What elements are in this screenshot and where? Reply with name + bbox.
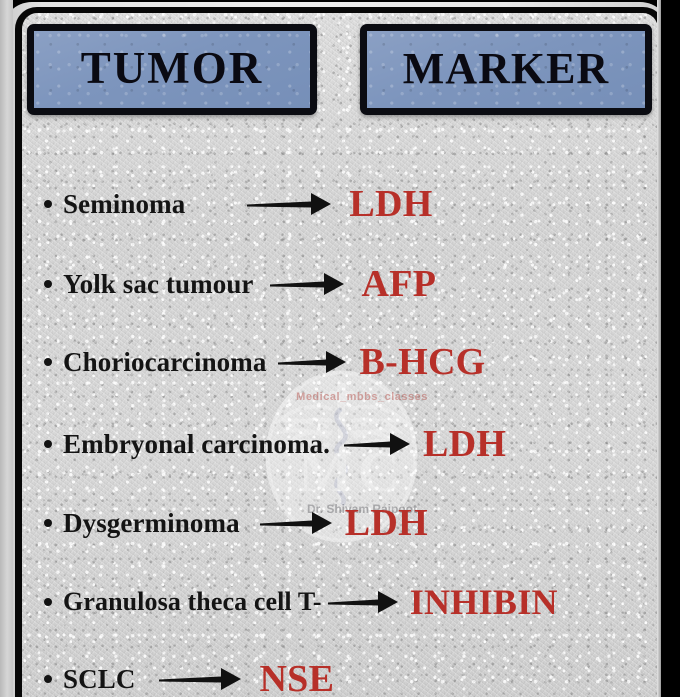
outer-frame: TUMOR MARKER xyxy=(2,2,670,697)
screenshot-canvas: TUMOR MARKER xyxy=(0,0,680,697)
inner-black-border xyxy=(15,7,665,697)
